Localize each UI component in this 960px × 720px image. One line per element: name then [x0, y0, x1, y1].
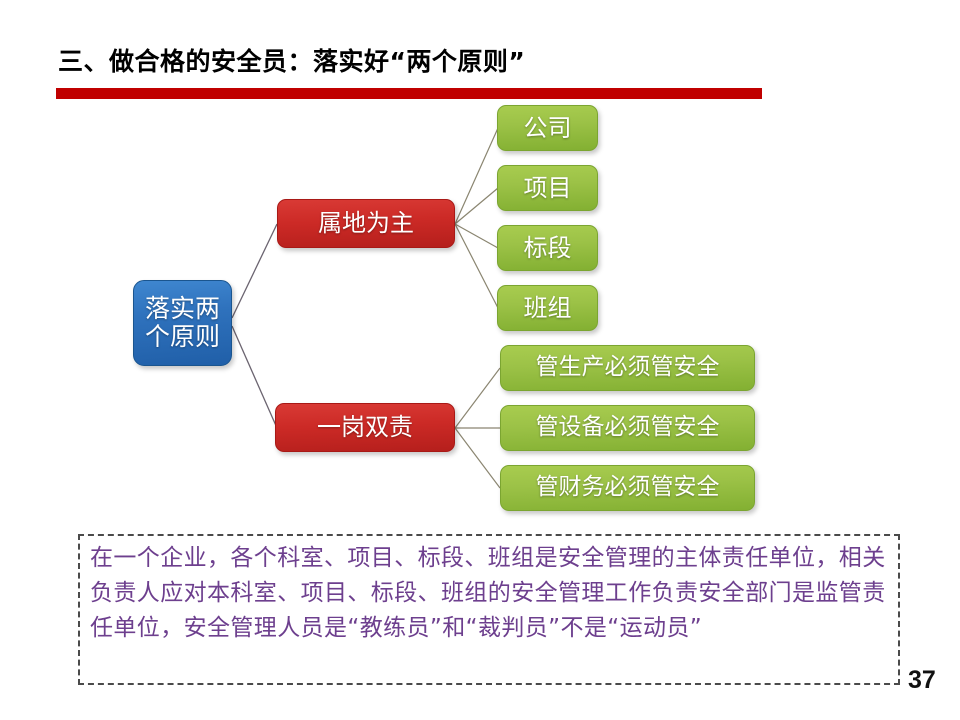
node-leaf-production-safety-label: 管生产必须管安全: [536, 355, 720, 381]
node-leaf-finance-safety-label: 管财务必须管安全: [536, 475, 720, 501]
node-leaf-team[interactable]: 班组: [497, 285, 598, 331]
node-leaf-section[interactable]: 标段: [497, 225, 598, 271]
node-leaf-project-label: 项目: [524, 175, 572, 202]
node-branch-dual-duty-label: 一岗双责: [317, 414, 413, 441]
page-number: 37: [908, 666, 936, 695]
node-leaf-production-safety[interactable]: 管生产必须管安全: [500, 345, 755, 391]
node-branch-territory-label: 属地为主: [318, 210, 414, 237]
slide-canvas: 三、做合格的安全员：落实好“两个原则”: [0, 0, 960, 720]
node-root[interactable]: 落实两 个原则: [133, 280, 232, 366]
node-leaf-finance-safety[interactable]: 管财务必须管安全: [500, 465, 755, 511]
node-leaf-team-label: 班组: [524, 295, 572, 322]
node-branch-territory[interactable]: 属地为主: [277, 199, 455, 248]
note-body-text: 在一个企业，各个科室、项目、标段、班组是安全管理的主体责任单位，相关负责人应对本…: [90, 541, 896, 646]
node-leaf-project[interactable]: 项目: [497, 165, 598, 211]
node-leaf-company-label: 公司: [524, 115, 572, 142]
node-leaf-equipment-safety-label: 管设备必须管安全: [536, 415, 720, 441]
node-branch-dual-duty[interactable]: 一岗双责: [275, 403, 455, 452]
node-leaf-equipment-safety[interactable]: 管设备必须管安全: [500, 405, 755, 451]
node-leaf-company[interactable]: 公司: [497, 105, 598, 151]
node-leaf-section-label: 标段: [524, 235, 572, 262]
node-root-label: 落实两 个原则: [145, 295, 220, 351]
